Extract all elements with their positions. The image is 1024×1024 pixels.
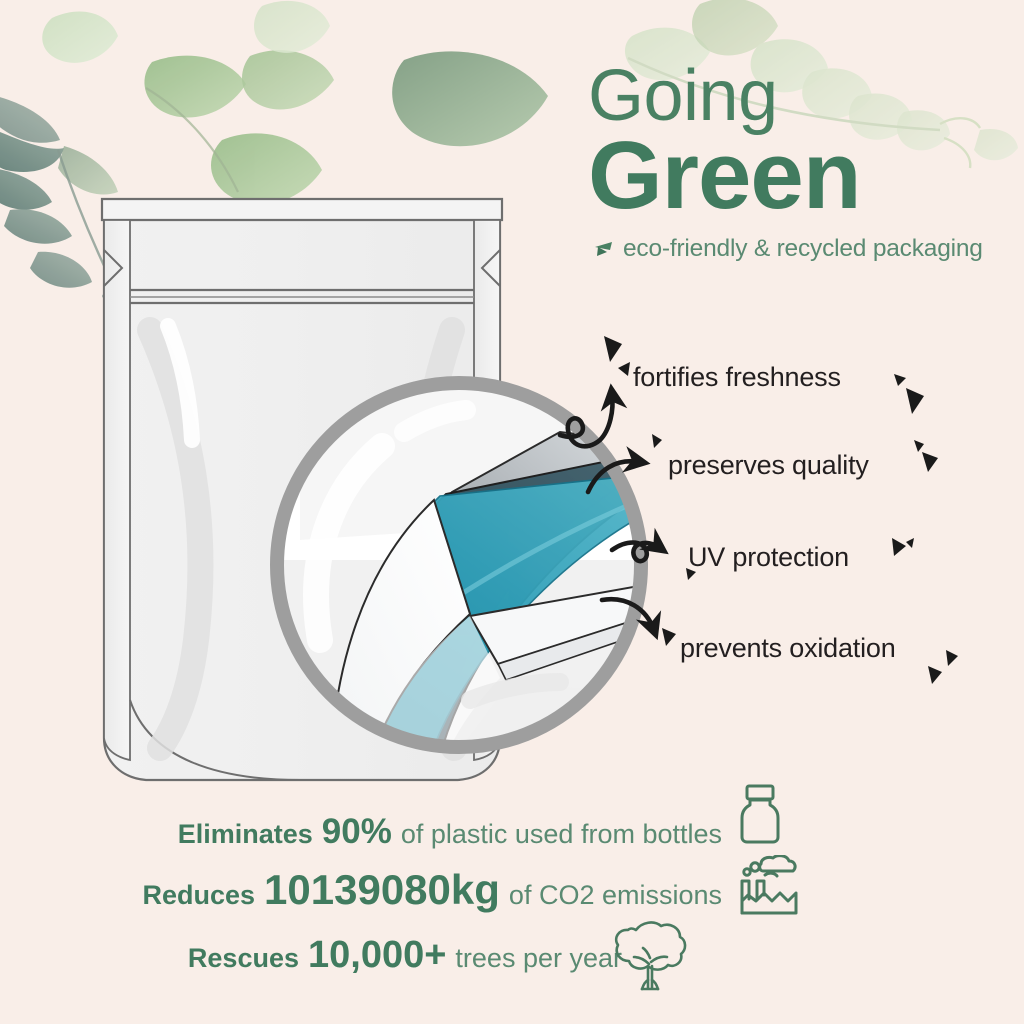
- stat-value: 10,000+: [308, 934, 446, 977]
- triangle-arrow-icon: [592, 239, 614, 259]
- stat-value: 10139080kg: [264, 866, 500, 914]
- tree-icon: [606, 918, 690, 994]
- stat-lead: Eliminates: [178, 819, 313, 850]
- subtitle-text: eco-friendly & recycled packaging: [623, 235, 983, 263]
- title-line-1: Going: [588, 62, 1008, 130]
- feature-label-fortifies-freshness: fortifies freshness: [633, 362, 841, 393]
- title-line-2: Green: [588, 132, 1008, 220]
- headline-block: Going Green eco-friendly & recycled pack…: [588, 62, 1008, 263]
- stat-lead: Rescues: [188, 943, 299, 974]
- stat-value: 90%: [322, 812, 392, 852]
- stat-tail: trees per year: [455, 943, 622, 974]
- feature-label-prevents-oxidation: prevents oxidation: [680, 633, 896, 664]
- infographic-canvas: Going Green eco-friendly & recycled pack…: [0, 0, 1024, 1024]
- curved-arrow-icon: [602, 599, 654, 630]
- feature-label-uv-protection: UV protection: [688, 542, 849, 573]
- curved-arrow-icon: [588, 461, 640, 492]
- curved-arrow-icon: [612, 543, 660, 562]
- stat-tail: of plastic used from bottles: [401, 819, 722, 850]
- stat-row-plastic: Eliminates 90% of plastic used from bott…: [0, 812, 760, 860]
- stat-tail: of CO2 emissions: [509, 880, 722, 911]
- factory-icon: [735, 855, 801, 917]
- subtitle-row: eco-friendly & recycled packaging: [592, 235, 1008, 263]
- curved-arrow-icon: [560, 394, 613, 446]
- stat-lead: Reduces: [142, 880, 255, 911]
- bottle-icon: [733, 783, 787, 845]
- feature-label-preserves-quality: preserves quality: [668, 450, 869, 481]
